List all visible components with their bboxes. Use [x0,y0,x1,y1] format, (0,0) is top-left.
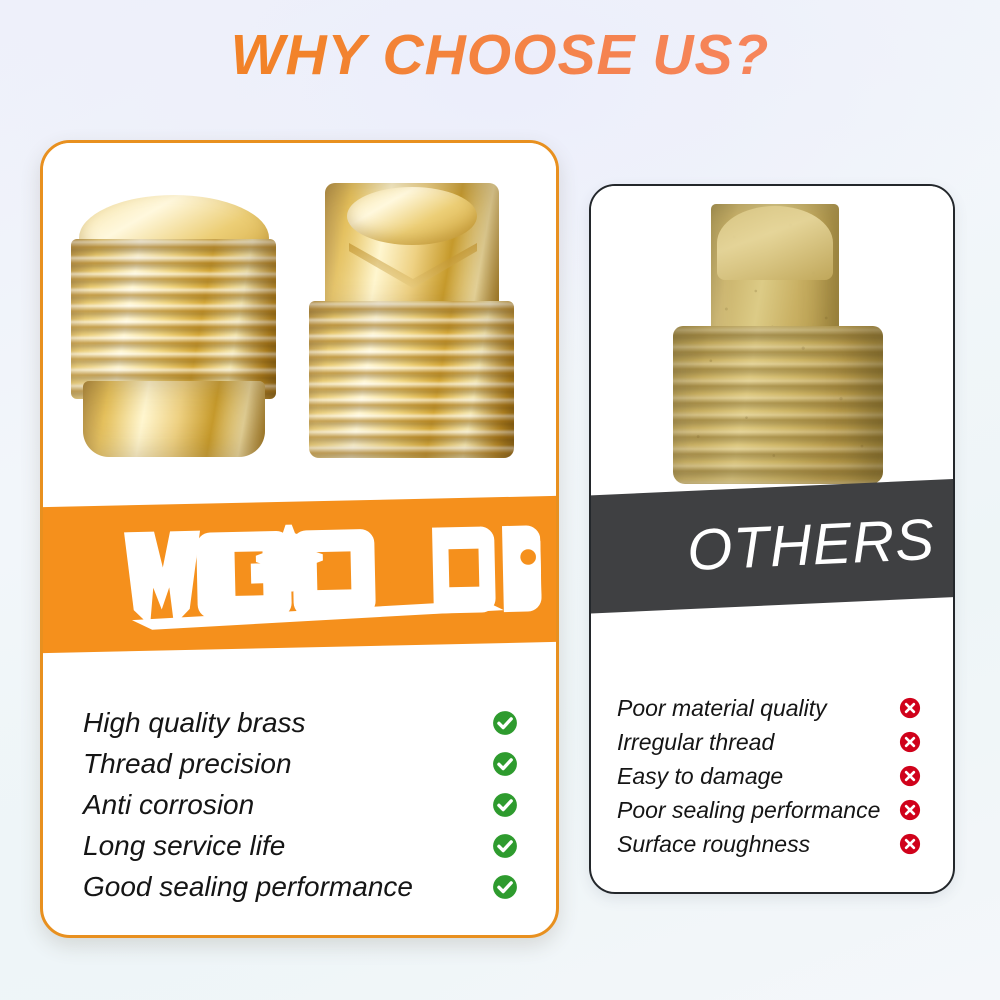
list-item-label: Poor material quality [617,695,827,722]
page-title: WHY CHOOSE US? [0,22,1000,88]
check-icon [492,874,518,900]
list-item: Good sealing performance [83,867,532,907]
cross-icon [899,833,921,855]
list-item: Anti corrosion [83,785,532,825]
mgodo-logo-mark [110,513,542,634]
brand-product-photo [43,143,556,510]
list-item: Poor sealing performance [617,793,931,827]
list-item-label: Anti corrosion [83,789,254,821]
check-icon [492,710,518,736]
others-brass-plug-image [673,204,883,484]
list-item-label: Good sealing performance [83,871,413,903]
list-item: Irregular thread [617,725,931,759]
list-item: Poor material quality [617,691,931,725]
cross-icon [899,799,921,821]
brand-brass-plug-image-1 [71,195,276,457]
infographic-stage: WHY CHOOSE US? OTHERS [0,0,1000,1000]
list-item-label: Irregular thread [617,729,774,756]
others-banner: OTHERS [589,475,955,614]
list-item-label: Thread precision [83,748,292,780]
list-item-label: High quality brass [83,707,306,739]
list-item: Long service life [83,826,532,866]
others-card: OTHERS Poor material quality Irregular t… [589,184,955,894]
list-item: Surface roughness [617,827,931,861]
brand-brass-plug-image-2 [309,183,514,458]
check-icon [492,833,518,859]
list-item: Thread precision [83,744,532,784]
cross-icon [899,731,921,753]
list-item-label: Surface roughness [617,831,810,858]
cross-icon [899,697,921,719]
list-item: High quality brass [83,703,532,743]
others-feature-list: Poor material quality Irregular thread E… [591,691,953,861]
others-banner-label: OTHERS [686,505,936,583]
list-item: Easy to damage [617,759,931,793]
mgodo-logo [110,513,542,634]
list-item-label: Easy to damage [617,763,783,790]
brand-feature-list: High quality brass Thread precision Anti… [43,703,556,908]
list-item-label: Long service life [83,830,285,862]
cross-icon [899,765,921,787]
check-icon [492,792,518,818]
list-item-label: Poor sealing performance [617,797,880,824]
others-product-photo [591,186,953,488]
brand-card: High quality brass Thread precision Anti… [40,140,559,938]
check-icon [492,751,518,777]
brand-banner [40,494,559,653]
